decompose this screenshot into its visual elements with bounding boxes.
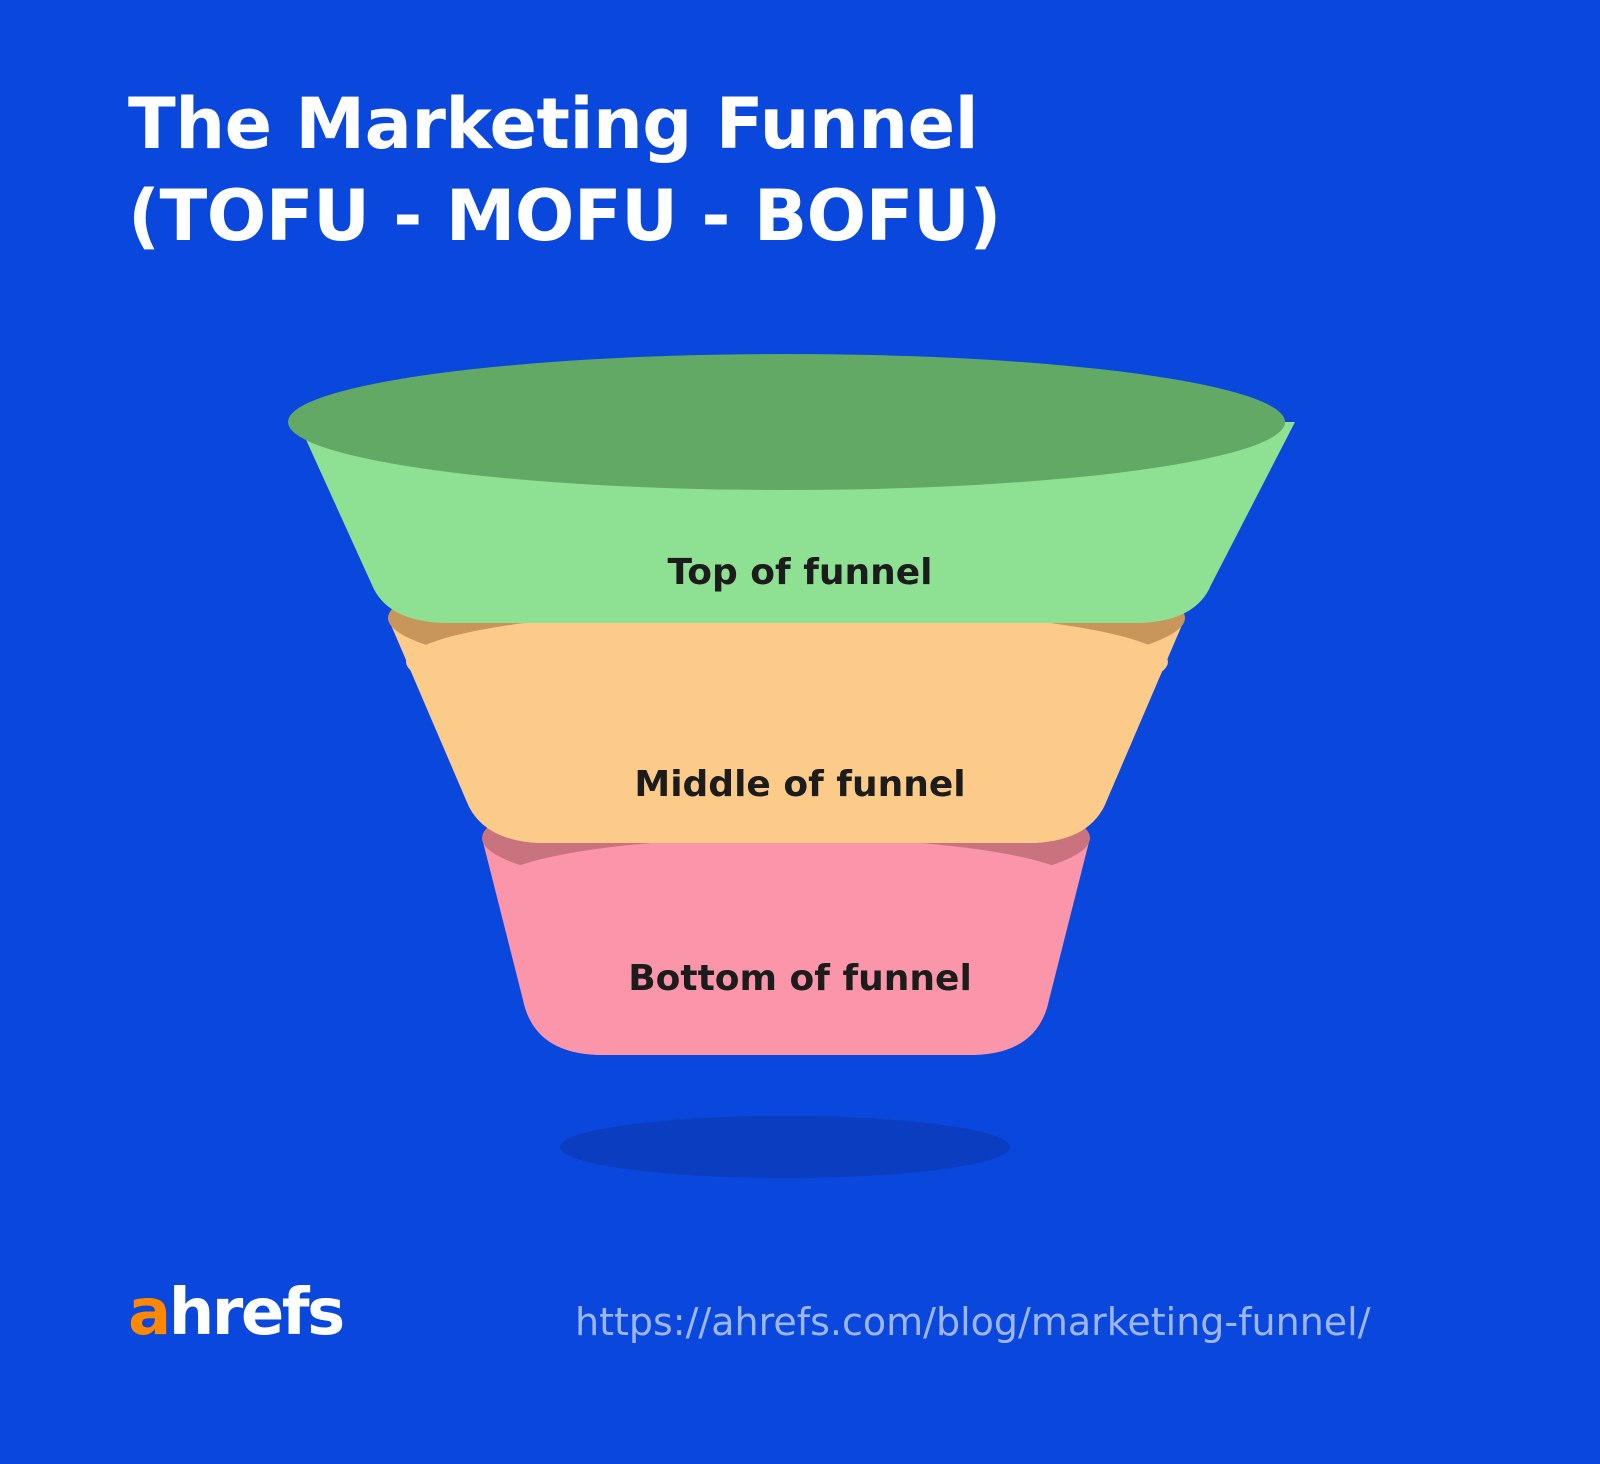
logo-letters-hrefs: hrefs (169, 1276, 343, 1350)
source-url[interactable]: https://ahrefs.com/blog/marketing-funnel… (575, 1300, 1371, 1344)
funnel-label-tofu: Top of funnel (0, 552, 1600, 593)
funnel-infographic: The Marketing Funnel (TOFU - MOFU - BOFU… (0, 0, 1600, 1464)
ahrefs-logo[interactable]: ahrefs (128, 1281, 343, 1345)
funnel-ground-shadow (560, 1116, 1010, 1178)
logo-letter-a: a (128, 1276, 169, 1350)
funnel-label-bofu: Bottom of funnel (0, 958, 1600, 999)
funnel-label-mofu: Middle of funnel (0, 764, 1600, 805)
tofu-top-opening (288, 354, 1285, 490)
funnel-svg (0, 0, 1600, 1464)
funnel-diagram: Top of funnel Middle of funnel Bottom of… (0, 0, 1600, 1464)
mofu-rim-shadow-lower (406, 608, 1168, 716)
